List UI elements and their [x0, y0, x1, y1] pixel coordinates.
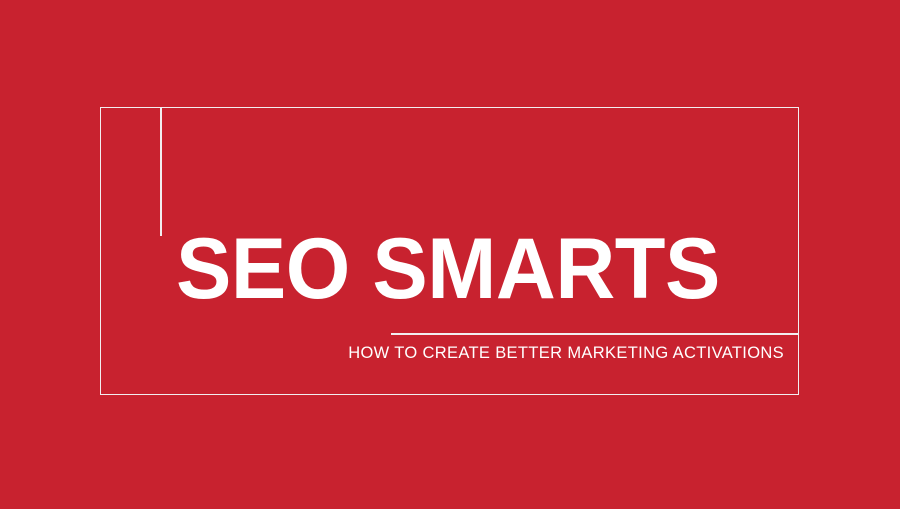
slide-subtitle: HOW TO CREATE BETTER MARKETING ACTIVATIO… [300, 343, 784, 363]
vertical-accent-rule [160, 107, 162, 236]
title-slide: SEO SMARTS HOW TO CREATE BETTER MARKETIN… [0, 0, 900, 509]
title-block: SEO SMARTS [176, 226, 796, 312]
subtitle-divider-rule [391, 333, 799, 335]
subtitle-block: HOW TO CREATE BETTER MARKETING ACTIVATIO… [300, 343, 784, 363]
slide-title: SEO SMARTS [176, 226, 774, 312]
